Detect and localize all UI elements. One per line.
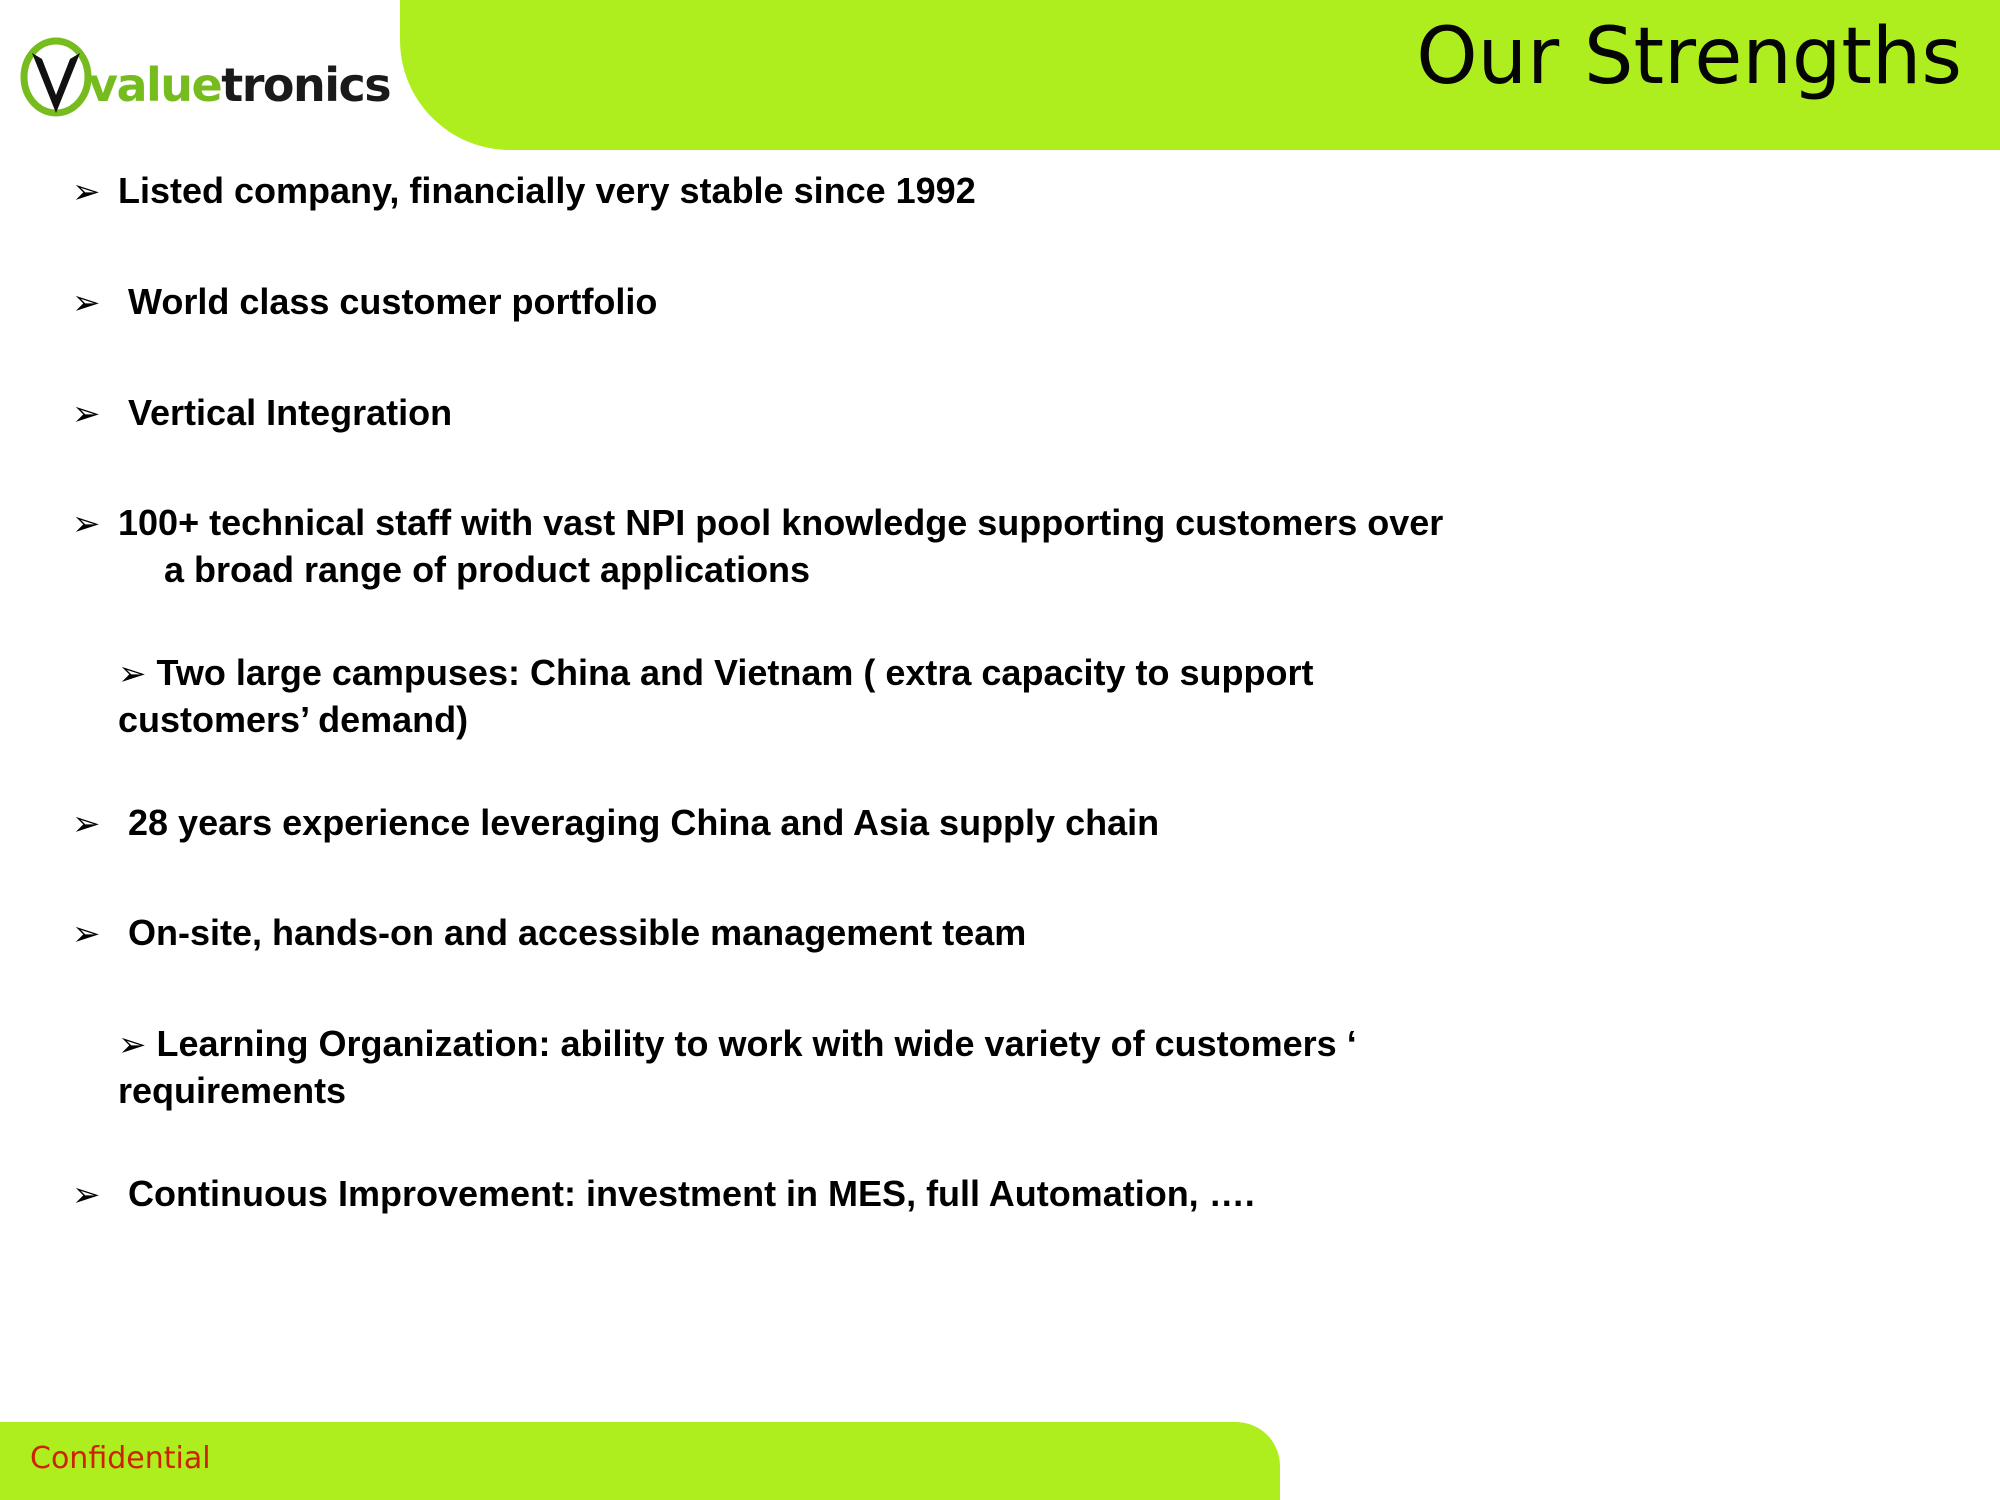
list-item: ➢100+ technical staff with vast NPI pool… <box>118 500 1454 594</box>
list-item: ➢ Two large campuses: China and Vietnam … <box>118 650 1368 744</box>
arrow-bullet-icon: ➢ <box>118 1028 147 1062</box>
list-item: ➢Listed company, financially very stable… <box>118 168 1918 215</box>
slide-our-strengths: Our Strengths valuetronics ➢Listed compa… <box>0 0 2000 1500</box>
logo-word-value: value <box>88 58 221 112</box>
logo-word-tronics: tronics <box>221 58 390 112</box>
list-item-text: Listed company, financially very stable … <box>118 170 976 211</box>
list-item-text: Two large campuses: China and Vietnam ( … <box>118 652 1313 740</box>
logo-wordmark: valuetronics <box>88 58 390 112</box>
list-item-text: On-site, hands-on and accessible managem… <box>118 912 1026 953</box>
company-logo: valuetronics <box>18 26 390 122</box>
list-item-text: World class customer portfolio <box>118 281 657 322</box>
list-item: ➢ Vertical Integration <box>118 390 1918 437</box>
list-item-text: Learning Organization: ability to work w… <box>118 1023 1357 1111</box>
v-in-circle-icon <box>18 29 94 119</box>
list-item: ➢ Learning Organization: ability to work… <box>118 1021 1388 1115</box>
list-item: ➢ Continuous Improvement: investment in … <box>118 1171 1918 1218</box>
list-item: ➢ On-site, hands-on and accessible manag… <box>118 910 1918 957</box>
bullet-list: ➢Listed company, financially very stable… <box>118 168 1918 1264</box>
list-item-text: 100+ technical staff with vast NPI pool … <box>118 502 1443 590</box>
list-item-text: 28 years experience leveraging China and… <box>118 802 1159 843</box>
page-title: Our Strengths <box>1416 14 1962 101</box>
list-item-text: Continuous Improvement: investment in ME… <box>118 1173 1255 1214</box>
list-item: ➢ 28 years experience leveraging China a… <box>118 800 1918 847</box>
arrow-bullet-icon: ➢ <box>118 657 147 691</box>
list-item: ➢ World class customer portfolio <box>118 279 1918 326</box>
confidential-label: Confidential <box>30 1441 211 1476</box>
list-item-text: Vertical Integration <box>118 392 452 433</box>
